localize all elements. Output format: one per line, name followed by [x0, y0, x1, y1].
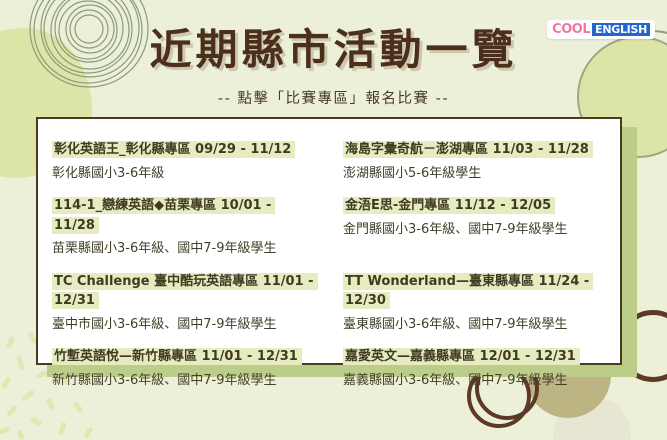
- page-subtitle: -- 點擊「比賽專區」報名比賽 --: [0, 77, 667, 108]
- event-item[interactable]: TC Challenge 臺中酷玩英語專區 11/01 - 12/31 臺中市國…: [38, 265, 329, 341]
- cool-english-logo: COOL ENGLISH: [547, 20, 655, 39]
- poster-header: 近期縣市活動一覽 -- 點擊「比賽專區」報名比賽 --: [0, 0, 667, 108]
- event-item[interactable]: 金浯E思-金門專區 11/12 - 12/05 金門縣國小3-6年級、國中7-9…: [329, 189, 620, 265]
- event-audience: 金門縣國小3-6年級、國中7-9年級學生: [343, 221, 610, 239]
- event-title[interactable]: 彰化英語王_彰化縣專區 09/29 - 11/12: [52, 141, 295, 158]
- pale-circle-decoration: [553, 396, 631, 440]
- event-audience: 彰化縣國小3-6年級: [52, 165, 319, 183]
- event-title[interactable]: TT Wonderland—臺東縣專區 11/24 - 12/30: [343, 273, 593, 310]
- event-item[interactable]: 竹塹英語悅—新竹縣專區 11/01 - 12/31 新竹縣國小3-6年級、國中7…: [38, 340, 329, 396]
- event-title[interactable]: TC Challenge 臺中酷玩英語專區 11/01 - 12/31: [52, 273, 318, 310]
- event-audience: 臺東縣國小3-6年級、國中7-9年級學生: [343, 316, 610, 334]
- event-title[interactable]: 114-1_戀練英語◆苗栗專區 10/01 - 11/28: [52, 197, 275, 234]
- event-item[interactable]: 嘉愛英文—嘉義縣專區 12/01 - 12/31 嘉義縣國小3-6年級、國中7-…: [329, 340, 620, 396]
- event-title[interactable]: 嘉愛英文—嘉義縣專區 12/01 - 12/31: [343, 348, 580, 365]
- event-audience: 臺中市國小3-6年級、國中7-9年級學生: [52, 316, 319, 334]
- event-item[interactable]: 彰化英語王_彰化縣專區 09/29 - 11/12 彰化縣國小3-6年級: [38, 133, 329, 189]
- logo-english-badge: ENGLISH: [592, 23, 650, 36]
- event-audience: 新竹縣國小3-6年級、國中7-9年級學生: [52, 372, 319, 390]
- event-audience: 澎湖縣國小5-6年級學生: [343, 165, 610, 183]
- events-card: 彰化英語王_彰化縣專區 09/29 - 11/12 彰化縣國小3-6年級 海島字…: [36, 117, 622, 365]
- poster-root: 近期縣市活動一覽 -- 點擊「比賽專區」報名比賽 -- COOL ENGLISH…: [0, 0, 667, 440]
- event-audience: 苗栗縣國小3-6年級、國中7-9年級學生: [52, 240, 319, 258]
- event-title[interactable]: 金浯E思-金門專區 11/12 - 12/05: [343, 197, 555, 214]
- event-item[interactable]: TT Wonderland—臺東縣專區 11/24 - 12/30 臺東縣國小3…: [329, 265, 620, 341]
- event-title[interactable]: 竹塹英語悅—新竹縣專區 11/01 - 12/31: [52, 348, 302, 365]
- event-title[interactable]: 海島字彙奇航－澎湖專區 11/03 - 11/28: [343, 141, 593, 158]
- event-item[interactable]: 114-1_戀練英語◆苗栗專區 10/01 - 11/28 苗栗縣國小3-6年級…: [38, 189, 329, 265]
- event-item[interactable]: 海島字彙奇航－澎湖專區 11/03 - 11/28 澎湖縣國小5-6年級學生: [329, 133, 620, 189]
- logo-cool-text: COOL: [552, 23, 590, 36]
- event-audience: 嘉義縣國小3-6年級、國中7-9年級學生: [343, 372, 610, 390]
